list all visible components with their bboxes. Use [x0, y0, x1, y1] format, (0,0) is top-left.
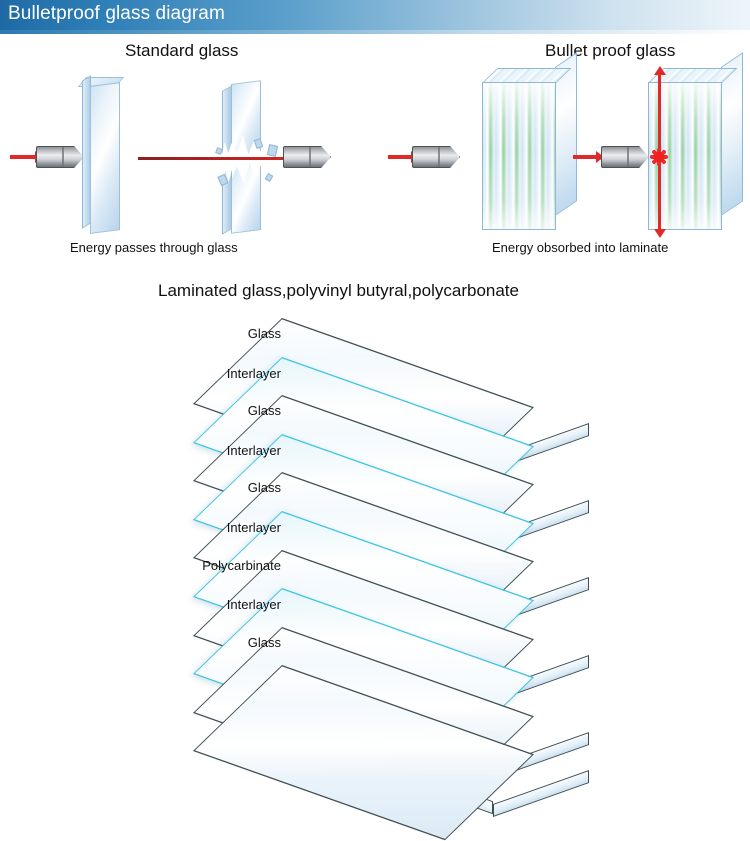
bullet-nose: [312, 146, 331, 168]
block-front-face: [482, 82, 556, 230]
slab-top-face: [193, 550, 534, 725]
layer-label-glass: Glass: [81, 326, 281, 341]
bullet-band: [438, 147, 440, 167]
slab-front-edge: [241, 674, 493, 776]
shard-edge-upper: [222, 85, 232, 157]
bullet-band: [627, 147, 629, 167]
glass-chip: [215, 147, 223, 155]
slab-front-edge: [241, 442, 493, 544]
bulletproof-glass-heading: Bullet proof glass: [545, 41, 675, 61]
slab-front-edge: [241, 365, 493, 467]
slab-right-edge: [493, 577, 589, 624]
layer-label-interlayer: Interlayer: [81, 366, 281, 381]
layer-label-glass: Glass: [81, 480, 281, 495]
slab-front-edge: [241, 712, 493, 814]
slab-shadow: [242, 537, 504, 668]
glass-chip: [254, 138, 263, 149]
slab-top-face: [193, 627, 534, 802]
glass-chip: [265, 173, 274, 182]
interlayer-sheet-face: [193, 588, 534, 763]
slab-top-face: [193, 395, 534, 570]
slab-shadow: [242, 498, 504, 629]
slab-shadow: [242, 460, 504, 591]
slab-right-edge: [493, 423, 589, 470]
pane-front-face: [90, 82, 120, 234]
slab-right-edge: [493, 500, 589, 547]
bulletproof-glass-caption: Energy obsorbed into laminate: [492, 240, 668, 255]
bulletproof-impact-arrow: [573, 155, 597, 159]
title-bar: Bulletproof glass diagram: [0, 0, 750, 30]
interlayer-sheet-face: [193, 434, 534, 609]
slab-shadow: [242, 614, 504, 745]
title-underline: [0, 30, 750, 34]
interlayer-sheet-face: [193, 511, 534, 686]
standard-incoming-arrow: [10, 155, 36, 159]
bullet-nose: [630, 146, 649, 168]
standard-glass-caption: Energy passes through glass: [70, 240, 238, 255]
slab-right-edge: [493, 732, 589, 779]
standard-trajectory-arrow: [138, 157, 286, 160]
layer-label-interlayer: Interlayer: [81, 597, 281, 612]
standard-glass-heading: Standard glass: [125, 41, 238, 61]
diagram-canvas: Bulletproof glass diagram Standard glass: [0, 0, 750, 744]
bullet-band: [62, 147, 64, 167]
slab-top-face: [193, 472, 534, 647]
slab-shadow: [242, 691, 504, 822]
glass-chip: [267, 144, 278, 157]
layer-label-glass: Glass: [81, 635, 281, 650]
slab-right-edge: [493, 770, 589, 817]
slab-shadow: [242, 576, 504, 707]
impact-starburst-icon: [650, 148, 668, 166]
layer-label-interlayer: Interlayer: [81, 443, 281, 458]
page-title: Bulletproof glass diagram: [8, 3, 225, 25]
slab-shadow: [242, 421, 504, 552]
slab-shadow: [242, 344, 504, 475]
bullet-band: [309, 147, 311, 167]
slab-right-edge: [493, 655, 589, 702]
slab-front-edge: [241, 519, 493, 621]
slab-shadow: [242, 653, 504, 784]
bulletproof-incoming-arrow: [388, 155, 412, 159]
slab-shadow: [242, 383, 504, 514]
laminate-stack-heading: Laminated glass,polyvinyl butyral,polyca…: [158, 281, 519, 301]
block-top-face: [482, 68, 572, 83]
layer-label-glass: Glass: [81, 403, 281, 418]
slab-top-face: [193, 318, 534, 493]
interlayer-sheet-face: [193, 357, 534, 532]
layer-label-polycarbinate: Polycarbinate: [81, 558, 281, 573]
shard-face-lower: [231, 162, 261, 234]
bullet-nose: [441, 146, 460, 168]
slab-front-edge: [241, 597, 493, 699]
slab-top-face: [193, 665, 534, 840]
layer-label-interlayer: Interlayer: [81, 520, 281, 535]
